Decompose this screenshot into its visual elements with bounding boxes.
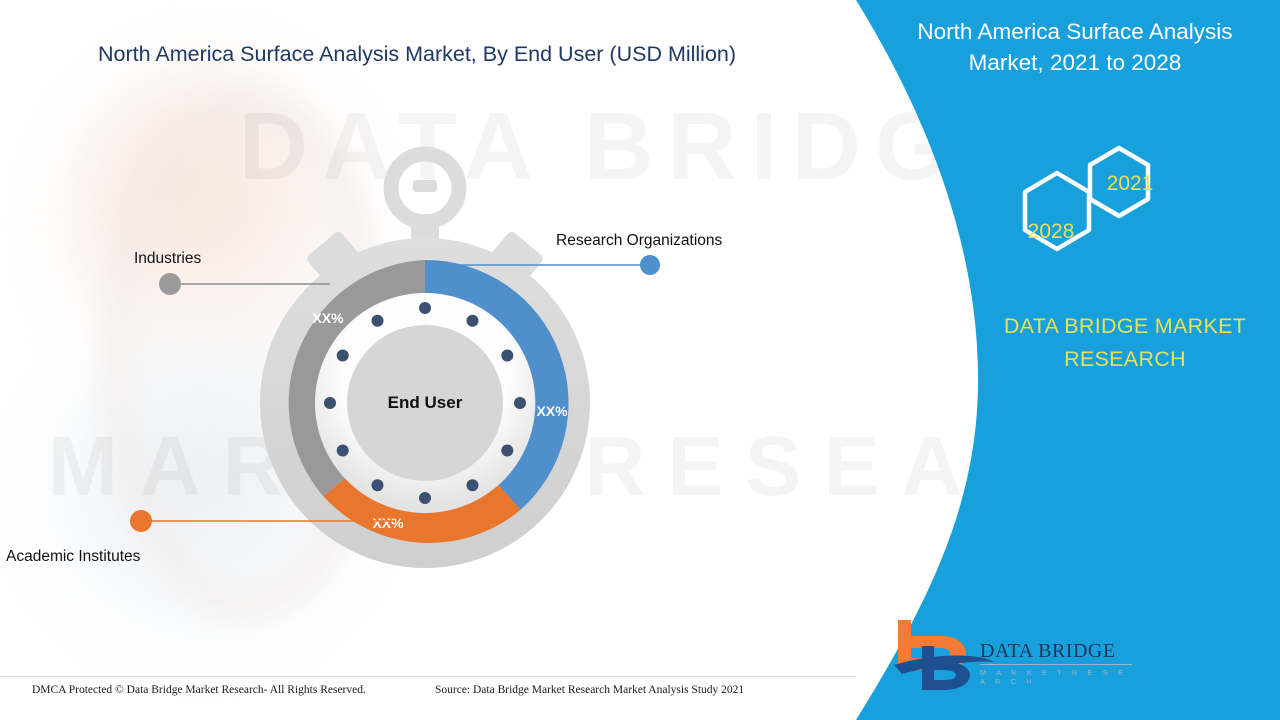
donut-center-label: End User: [315, 393, 535, 413]
callout-label-industries: Industries: [134, 250, 201, 268]
callout-leader-lines: [0, 0, 1280, 720]
footer-divider: [0, 676, 856, 677]
infographic-slide: DATA BRIDGE MARKET RESEARCH North Americ…: [0, 0, 1280, 720]
footer-source-text: Source: Data Bridge Market Research Mark…: [435, 684, 744, 696]
callout-dot-academic-institutes: [130, 510, 152, 532]
callout-dot-industries: [159, 273, 181, 295]
footer-dmca-text: DMCA Protected © Data Bridge Market Rese…: [32, 684, 366, 696]
callout-label-academic-institutes: Academic Institutes: [6, 548, 140, 566]
callout-label-research-organizations: Research Organizations: [556, 232, 722, 250]
callout-dot-research-organizations: [640, 255, 660, 275]
